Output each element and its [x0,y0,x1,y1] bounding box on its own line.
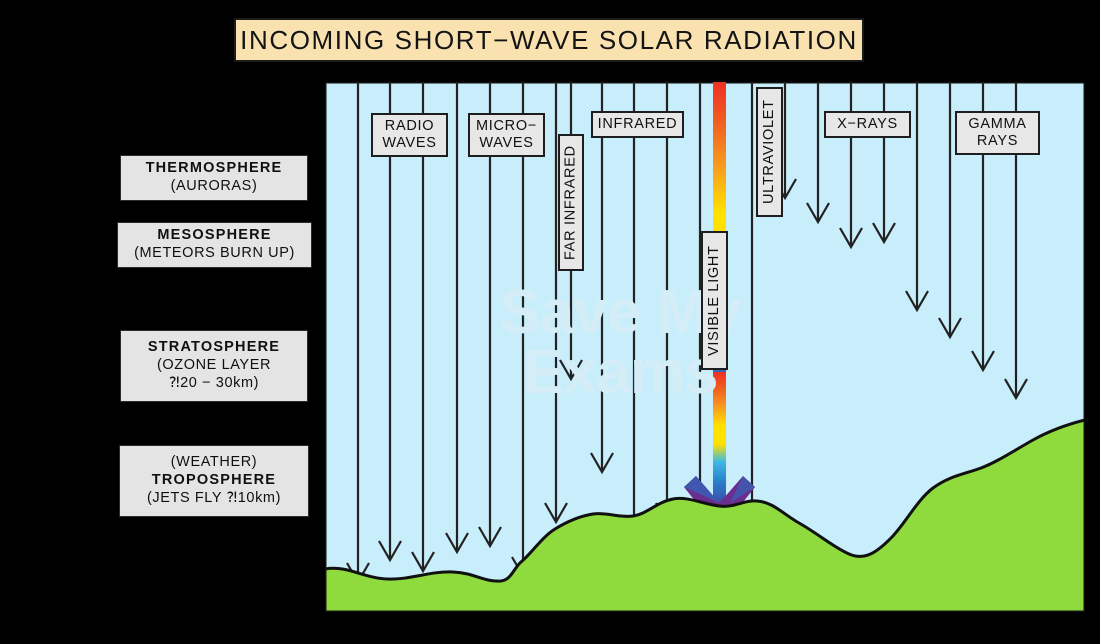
layer-label-line: ⁈20 − 30km) [169,375,259,393]
radiation-box-x-rays: X−RAYS [824,111,911,138]
radiation-box-line: X−RAYS [837,116,898,133]
radiation-box-line: VISIBLE LIGHT [706,245,723,356]
layer-label-mesosphere: MESOSPHERE (METEORS BURN UP) [117,222,312,268]
radiation-box-line: GAMMA [968,116,1026,133]
radiation-box-line: RADIO [385,118,434,135]
diagram-canvas: INCOMING SHORT−WAVE SOLAR RADIATION THER… [0,0,1100,644]
radiation-box-infrared: INFRARED [591,111,684,138]
radiation-box-gamma-rays: GAMMA RAYS [955,111,1040,155]
layer-label-line: (JETS FLY ⁈10km) [147,490,281,508]
layer-label-troposphere: (WEATHER) TROPOSPHERE (JETS FLY ⁈10km) [119,445,309,517]
layer-label-stratosphere: STRATOSPHERE (OZONE LAYER ⁈20 − 30km) [120,330,308,402]
radiation-box-line: WAVES [382,135,436,152]
radiation-box-line: INFRARED [598,116,678,133]
radiation-box-far-infrared: FAR INFRARED [558,134,584,271]
radiation-box-line: FAR INFRARED [563,145,580,260]
layer-label-line: STRATOSPHERE [148,339,280,357]
radiation-box-microwaves: MICRO− WAVES [468,113,545,157]
radiation-box-visible-light: VISIBLE LIGHT [701,231,728,370]
radiation-box-ultraviolet: ULTRAVIOLET [756,87,783,217]
radiation-box-line: ULTRAVIOLET [761,100,778,205]
radiation-box-line: MICRO− [476,118,537,135]
layer-label-line: (AURORAS) [171,178,258,196]
layer-label-line: (OZONE LAYER [157,357,271,375]
layer-label-line: (METEORS BURN UP) [134,245,295,263]
layer-label-line: MESOSPHERE [157,227,271,245]
diagram-title-banner: INCOMING SHORT−WAVE SOLAR RADIATION [234,18,864,62]
page-title: INCOMING SHORT−WAVE SOLAR RADIATION [240,25,858,56]
radiation-box-radio-waves: RADIO WAVES [371,113,448,157]
layer-label-line: (WEATHER) [171,454,257,472]
layer-label-line: TROPOSPHERE [152,472,276,490]
layer-label-line: THERMOSPHERE [146,160,283,178]
layer-label-thermosphere: THERMOSPHERE (AURORAS) [120,155,308,201]
radiation-box-line: RAYS [977,133,1018,150]
radiation-box-line: WAVES [479,135,533,152]
